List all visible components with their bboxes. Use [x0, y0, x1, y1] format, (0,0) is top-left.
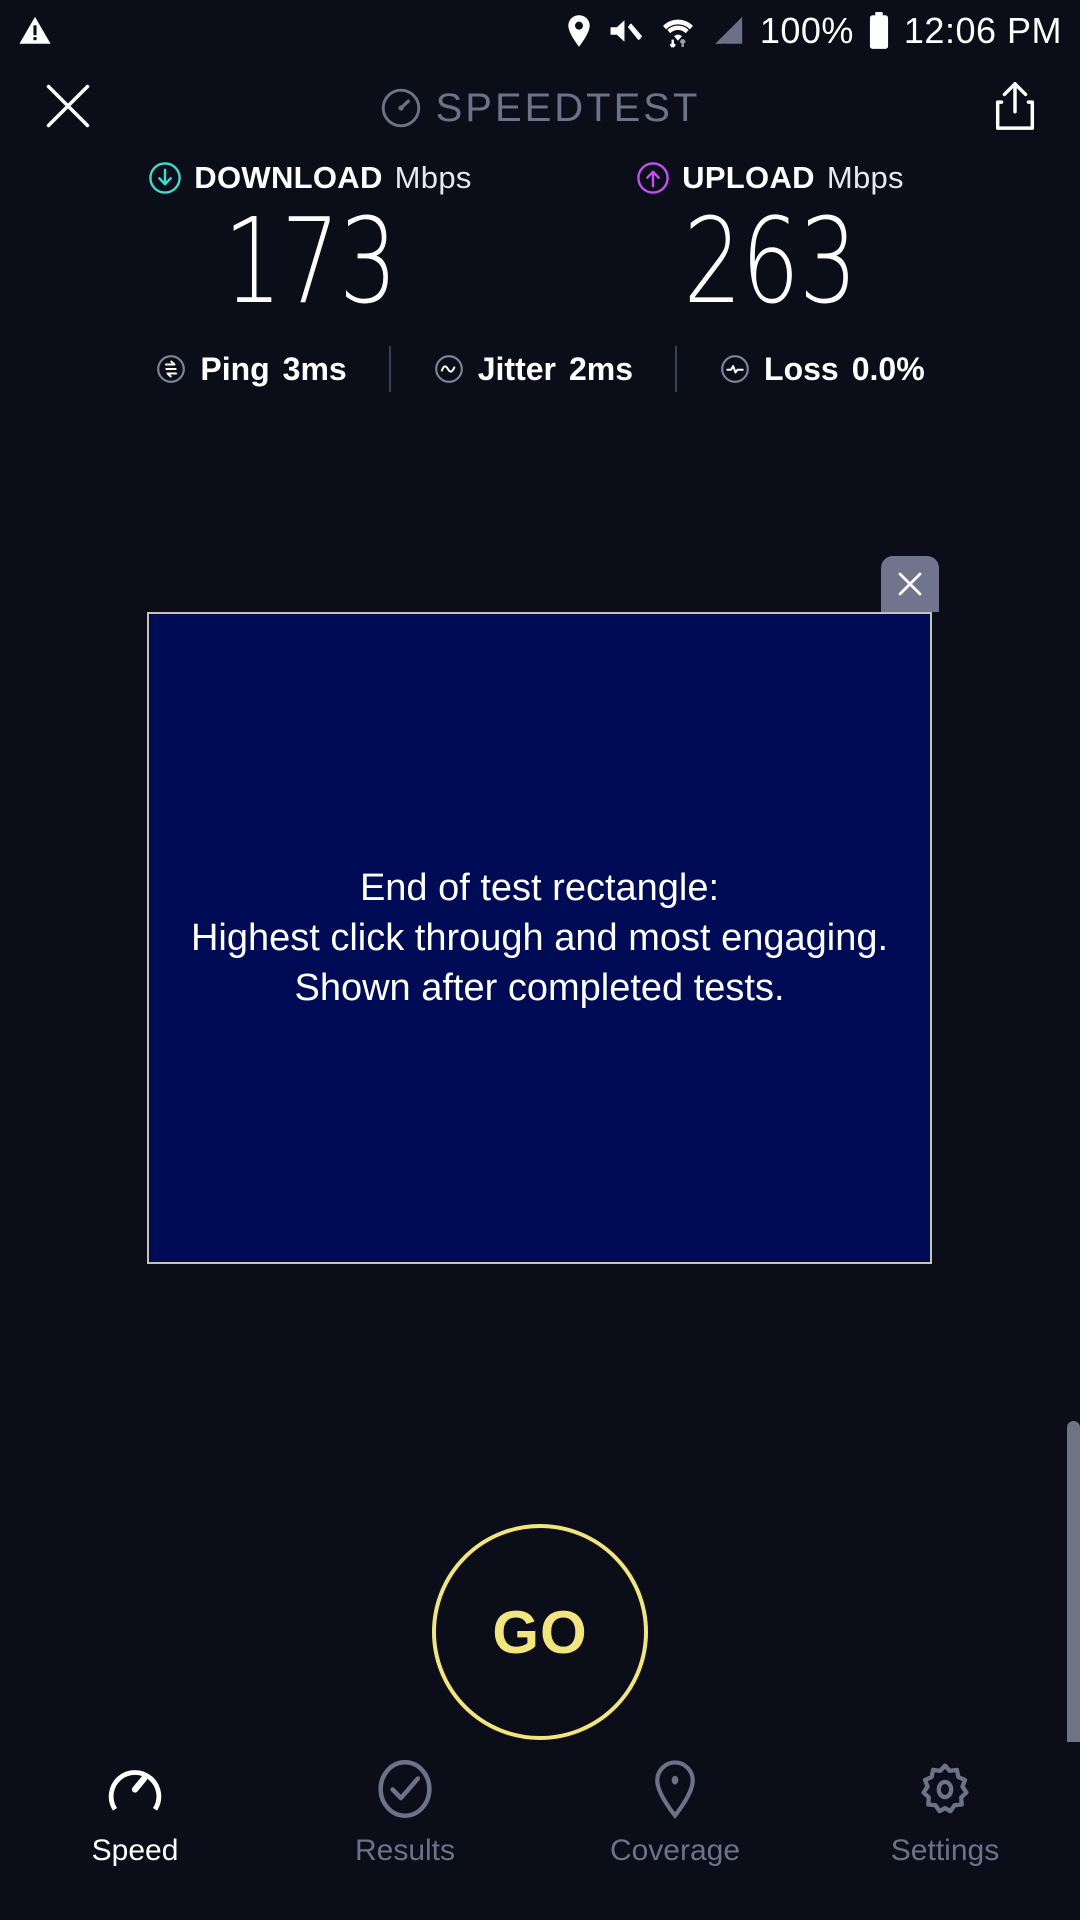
go-button[interactable]: GO	[432, 1524, 648, 1740]
upload-value: 263	[683, 202, 856, 320]
app-bar: SPEEDTEST	[0, 62, 1080, 154]
ping-metric: Ping 3ms	[113, 351, 388, 388]
status-bar-right: 100% 12:06 PM	[564, 10, 1062, 52]
bottom-navigation: Speed Results Coverage Settings	[0, 1742, 1080, 1920]
speedometer-icon	[380, 87, 422, 129]
volume-mute-icon	[608, 14, 646, 48]
nav-item-results[interactable]: Results	[270, 1758, 540, 1868]
location-pin-icon	[564, 14, 594, 48]
brand-label: SPEEDTEST	[436, 86, 701, 131]
status-bar: 100% 12:06 PM	[0, 0, 1080, 62]
download-value: 173	[223, 202, 396, 320]
upload-unit: Mbps	[827, 160, 904, 196]
share-button[interactable]	[992, 81, 1038, 136]
download-upload-row: DOWNLOAD Mbps 173 UPLOAD Mbps 263	[0, 160, 1080, 320]
check-circle-icon	[374, 1758, 436, 1820]
wifi-icon	[660, 13, 696, 49]
loss-value: 0.0%	[852, 351, 925, 388]
close-button[interactable]	[42, 80, 94, 137]
ad-close-button[interactable]	[881, 556, 939, 612]
status-bar-left	[18, 14, 52, 48]
loss-metric: Loss 0.0%	[677, 351, 967, 388]
nav-label-coverage: Coverage	[610, 1834, 740, 1868]
location-pin-icon	[644, 1758, 706, 1820]
nav-label-settings: Settings	[891, 1834, 999, 1868]
cellular-signal-icon	[710, 14, 746, 48]
jitter-value: 2ms	[569, 351, 633, 388]
ping-circle-icon	[155, 353, 187, 385]
upload-label-row: UPLOAD Mbps	[636, 160, 904, 196]
nav-item-settings[interactable]: Settings	[810, 1758, 1080, 1868]
download-arrow-circle-icon	[148, 161, 182, 195]
nav-item-speed[interactable]: Speed	[0, 1758, 270, 1868]
ping-jitter-loss-row: Ping 3ms Jitter 2ms Loss 0.0	[0, 346, 1080, 392]
ping-name: Ping	[200, 351, 269, 388]
status-bar-clock: 12:06 PM	[904, 10, 1062, 52]
download-label-row: DOWNLOAD Mbps	[148, 160, 471, 196]
go-button-container: GO	[0, 1524, 1080, 1740]
download-name: DOWNLOAD	[194, 160, 382, 196]
upload-metric: UPLOAD Mbps 263	[580, 160, 960, 320]
app-title: SPEEDTEST	[0, 86, 1080, 131]
download-unit: Mbps	[395, 160, 472, 196]
loss-circle-icon	[719, 353, 751, 385]
jitter-metric: Jitter 2ms	[391, 351, 675, 388]
upload-name: UPLOAD	[682, 160, 815, 196]
upload-arrow-circle-icon	[636, 161, 670, 195]
speedometer-icon	[104, 1758, 166, 1820]
warning-triangle-icon	[18, 14, 52, 48]
jitter-name: Jitter	[478, 351, 556, 388]
go-button-label: GO	[492, 1598, 587, 1667]
nav-item-coverage[interactable]: Coverage	[540, 1758, 810, 1868]
battery-full-icon	[868, 12, 890, 50]
download-metric: DOWNLOAD Mbps 173	[120, 160, 500, 320]
nav-label-results: Results	[355, 1834, 455, 1868]
advertisement-text: End of test rectangle: Highest click thr…	[175, 863, 904, 1013]
nav-label-speed: Speed	[92, 1834, 179, 1868]
advertisement-banner[interactable]: End of test rectangle: Highest click thr…	[147, 612, 932, 1264]
results-panel: DOWNLOAD Mbps 173 UPLOAD Mbps 263	[0, 160, 1080, 392]
battery-percent-label: 100%	[760, 10, 854, 52]
gear-icon	[914, 1758, 976, 1820]
jitter-wave-circle-icon	[433, 353, 465, 385]
loss-name: Loss	[764, 351, 839, 388]
ping-value: 3ms	[283, 351, 347, 388]
